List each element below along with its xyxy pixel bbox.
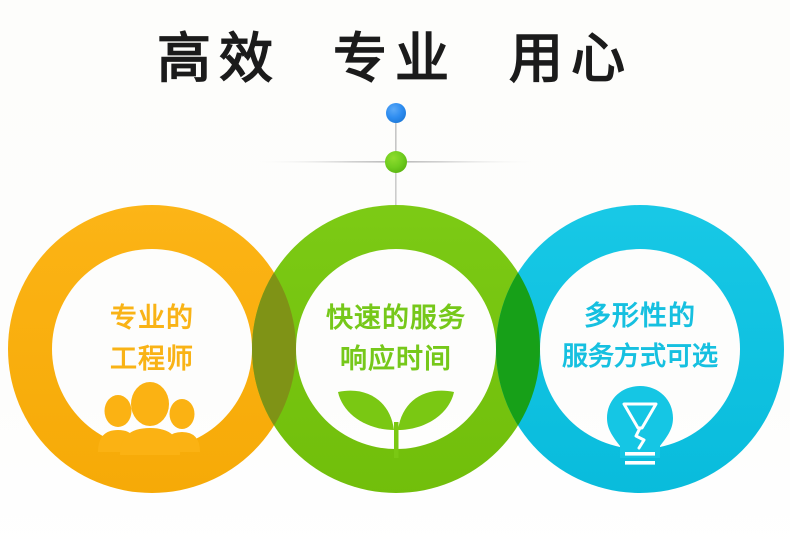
venn-rings-diagram bbox=[0, 0, 790, 557]
ring-service-options bbox=[0, 0, 790, 557]
infographic-poster: 高效专业用心 bbox=[0, 0, 790, 557]
